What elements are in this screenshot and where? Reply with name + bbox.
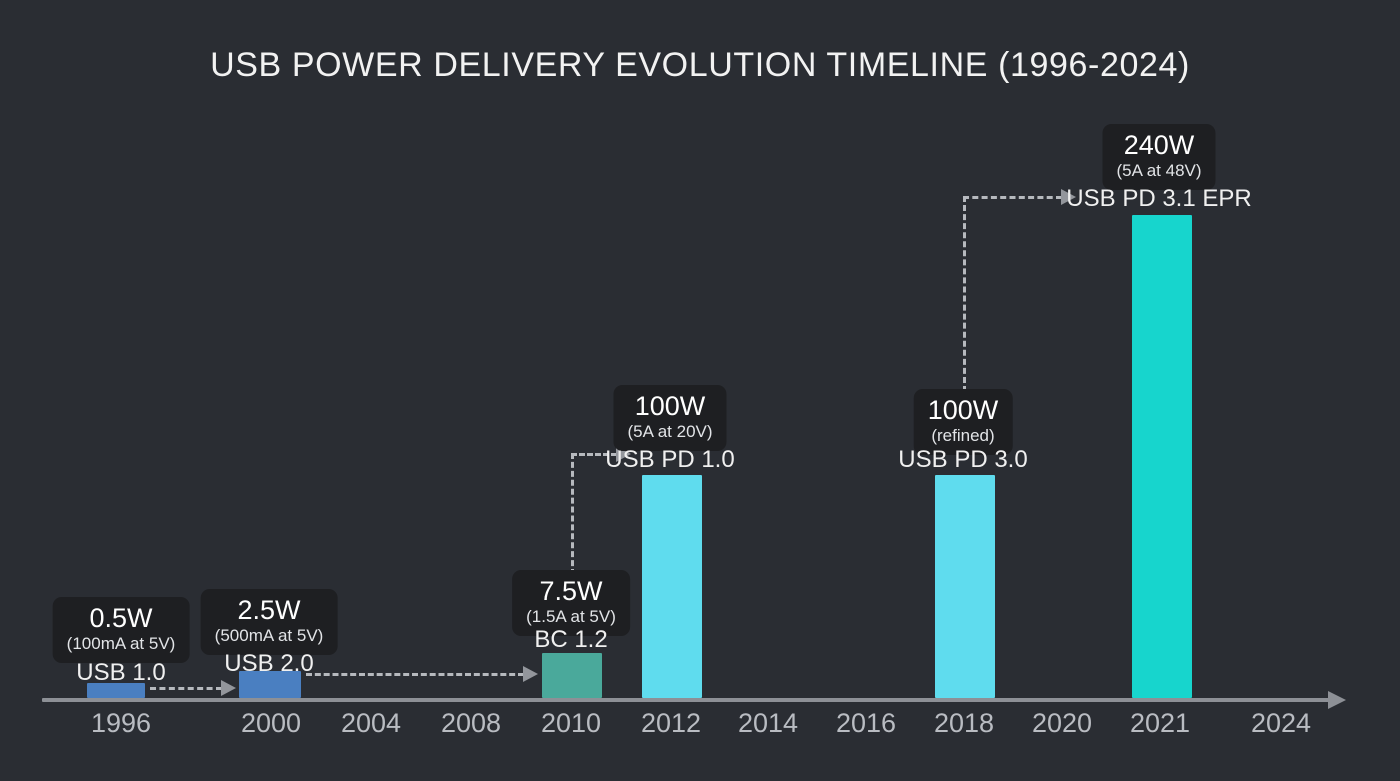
series-label-usb-pd-3-1-epr: USB PD 3.1 EPR bbox=[1066, 185, 1251, 213]
value-badge-watt: 240W bbox=[1116, 130, 1201, 161]
value-badge-detail: (500mA at 5V) bbox=[215, 626, 324, 646]
value-badge-detail: (5A at 20V) bbox=[627, 422, 712, 442]
value-badge-usb-pd-3-1-epr: 240W (5A at 48V) bbox=[1102, 124, 1215, 190]
bar-bc-1-2[interactable] bbox=[542, 653, 602, 698]
x-tick-2004: 2004 bbox=[341, 708, 401, 739]
x-tick-2010: 2010 bbox=[541, 708, 601, 739]
connector-usb1-to-usb2 bbox=[150, 687, 222, 690]
value-badge-detail: (refined) bbox=[928, 426, 999, 446]
bar-usb-pd-3-1-epr[interactable] bbox=[1132, 215, 1192, 698]
value-badge-detail: (5A at 48V) bbox=[1116, 161, 1201, 181]
connector-pd30-to-pd31-horizontal bbox=[963, 196, 1062, 199]
plot-area: 0.5W (100mA at 5V) 2.5W (500mA at 5V) 7.… bbox=[0, 0, 1400, 781]
value-badge-watt: 7.5W bbox=[526, 576, 616, 607]
x-tick-2012: 2012 bbox=[641, 708, 701, 739]
bar-usb-pd-3-0[interactable] bbox=[935, 475, 995, 698]
connector-pd30-to-pd31-vertical bbox=[963, 196, 966, 392]
value-badge-usb-pd-1-0: 100W (5A at 20V) bbox=[613, 385, 726, 451]
value-badge-usb-1-0: 0.5W (100mA at 5V) bbox=[53, 597, 190, 663]
bar-usb-pd-1-0[interactable] bbox=[642, 475, 702, 698]
x-tick-2018: 2018 bbox=[934, 708, 994, 739]
x-tick-2020: 2020 bbox=[1032, 708, 1092, 739]
timeline-chart-canvas: USB POWER DELIVERY EVOLUTION TIMELINE (1… bbox=[0, 0, 1400, 781]
value-badge-watt: 100W bbox=[627, 391, 712, 422]
series-label-usb-pd-3-0: USB PD 3.0 bbox=[898, 446, 1027, 474]
series-label-usb-2-0: USB 2.0 bbox=[224, 650, 313, 678]
x-tick-2024: 2024 bbox=[1251, 708, 1311, 739]
x-tick-1996: 1996 bbox=[91, 708, 151, 739]
value-badge-watt: 100W bbox=[928, 395, 999, 426]
connector-usb1-to-usb2-arrow-icon bbox=[221, 680, 236, 696]
connector-usb2-to-bc12 bbox=[306, 673, 524, 676]
connector-usb2-to-bc12-arrow-icon bbox=[523, 666, 538, 682]
x-tick-2016: 2016 bbox=[836, 708, 896, 739]
x-tick-2021: 2021 bbox=[1130, 708, 1190, 739]
series-label-usb-pd-1-0: USB PD 1.0 bbox=[605, 446, 734, 474]
x-tick-2000: 2000 bbox=[241, 708, 301, 739]
x-tick-2008: 2008 bbox=[441, 708, 501, 739]
x-tick-2014: 2014 bbox=[738, 708, 798, 739]
x-axis-arrow-icon bbox=[1328, 691, 1346, 709]
value-badge-watt: 0.5W bbox=[67, 603, 176, 634]
value-badge-watt: 2.5W bbox=[215, 595, 324, 626]
value-badge-detail: (1.5A at 5V) bbox=[526, 607, 616, 627]
value-badge-usb-2-0: 2.5W (500mA at 5V) bbox=[201, 589, 338, 655]
value-badge-detail: (100mA at 5V) bbox=[67, 634, 176, 654]
series-label-usb-1-0: USB 1.0 bbox=[76, 659, 165, 687]
connector-bc12-to-pd1-vertical bbox=[571, 453, 574, 575]
series-label-bc-1-2: BC 1.2 bbox=[534, 626, 607, 654]
x-axis-line bbox=[42, 698, 1330, 702]
